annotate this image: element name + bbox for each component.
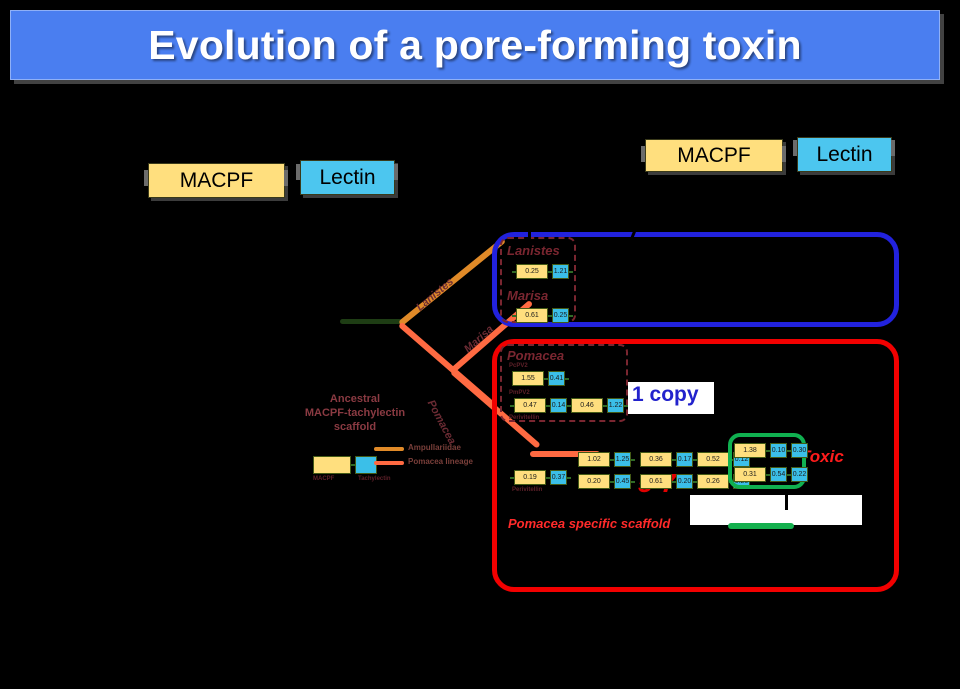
lectin-segment: 0.10 bbox=[770, 443, 787, 458]
pomacea-sublabel-1: PcPV2 bbox=[509, 363, 528, 369]
lectin-segment: 0.20 bbox=[676, 474, 693, 489]
green-highlight-bar bbox=[728, 523, 794, 529]
macpf-segment: 0.19 bbox=[514, 470, 546, 485]
macpf-segment: 0.61 bbox=[640, 474, 672, 489]
ancestral-node-label: Ancestral MACPF-tachylectin scaffold bbox=[300, 393, 410, 434]
gene-row-marisa: 0.61 0.25 bbox=[512, 308, 573, 323]
macpf-segment: 0.25 bbox=[516, 264, 548, 279]
ancestral-macpf-segment bbox=[313, 456, 351, 474]
ancestral-lectin-segment bbox=[355, 456, 377, 474]
lectin-segment: 0.30 bbox=[791, 443, 808, 458]
pointer-scaffold-right bbox=[785, 494, 788, 510]
ancestral-lectin-sublabel: Tachylectin bbox=[358, 476, 391, 482]
gene-row-pomacea-1: 1.55 0.41 bbox=[512, 371, 569, 386]
lectin-segment: 0.25 bbox=[552, 308, 569, 323]
macpf-segment: 0.46 bbox=[571, 398, 603, 413]
lectin-segment: 0.45 bbox=[614, 474, 631, 489]
gene-row-pomacea-2: 0.47 0.14 0.46 1.22 bbox=[510, 398, 628, 413]
row-connector-right bbox=[565, 378, 569, 380]
gene-row-scaffold-1: 0.19 0.37 bbox=[510, 470, 571, 485]
pomacea-sublabel-2: PmPV2 bbox=[509, 390, 530, 396]
lectin-segment: 0.17 bbox=[676, 452, 693, 467]
lectin-segment: 0.14 bbox=[550, 398, 567, 413]
pomacea-specific-scaffold-label: Pomacea specific scaffold bbox=[508, 516, 670, 531]
row-connector-right bbox=[569, 315, 573, 317]
gene-row-scaffold-2: 1.02 1.25 bbox=[578, 452, 635, 467]
tree-branch-label-lanistes: Lanistes bbox=[414, 276, 456, 314]
macpf-segment: 1.38 bbox=[734, 443, 766, 458]
macpf-segment: 0.20 bbox=[578, 474, 610, 489]
ancestral-gene-model bbox=[313, 456, 377, 474]
pomacea-sublabel-3: Perivitellin bbox=[509, 415, 539, 421]
macpf-segment: 0.31 bbox=[734, 467, 766, 482]
legend-line-ampullariidae bbox=[374, 447, 404, 451]
ancestral-label-line-1: Ancestral bbox=[300, 393, 410, 407]
lectin-segment: 0.41 bbox=[548, 371, 565, 386]
legend-text-ampullariidae: Ampullariidae bbox=[408, 443, 461, 452]
row-connector-right bbox=[631, 481, 635, 483]
legend-line-pomacea-lineage bbox=[374, 461, 404, 465]
tree-branch-label-pomacea: Pomacea bbox=[425, 398, 458, 446]
ancestral-macpf-sublabel: MACPF bbox=[313, 476, 334, 482]
legend-text-pomacea-lineage: Pomacea lineage bbox=[408, 457, 473, 466]
gene-row-lanistes: 0.25 1.21 bbox=[512, 264, 573, 279]
pointer-scaffold-left bbox=[627, 494, 630, 510]
ancestral-label-line-2: MACPF-tachylectin bbox=[300, 407, 410, 421]
taxon-label-marisa: Marisa bbox=[507, 288, 548, 303]
lectin-segment: 0.54 bbox=[770, 467, 787, 482]
expanded-note-backdrop bbox=[690, 495, 862, 525]
macpf-segment: 0.61 bbox=[516, 308, 548, 323]
lectin-segment: 1.22 bbox=[607, 398, 624, 413]
gene-row-scaffold-3: 0.20 0.45 bbox=[578, 474, 635, 489]
ancestral-label-line-3: scaffold bbox=[300, 421, 410, 435]
tree-branch-root bbox=[340, 319, 402, 324]
taxon-label-pomacea: Pomacea bbox=[507, 348, 564, 363]
macpf-segment: 1.02 bbox=[578, 452, 610, 467]
lectin-segment: 0.37 bbox=[550, 470, 567, 485]
scaffold-row-1-label: Perivitellin bbox=[512, 487, 542, 493]
taxon-label-lanistes: Lanistes bbox=[507, 243, 560, 258]
row-connector-right bbox=[567, 477, 571, 479]
row-connector-right bbox=[631, 459, 635, 461]
macpf-segment: 0.36 bbox=[640, 452, 672, 467]
macpf-segment: 0.52 bbox=[697, 452, 729, 467]
row-connector-right bbox=[569, 271, 573, 273]
macpf-segment: 0.47 bbox=[514, 398, 546, 413]
gene-row-highlight-1: 1.38 0.10 0.30 bbox=[734, 443, 808, 458]
gene-row-highlight-2: 0.31 0.54 0.22 bbox=[734, 467, 808, 482]
lectin-segment: 0.22 bbox=[791, 467, 808, 482]
phylogeny-diagram: Lanistes Marisa Pomacea Ancestral MACPF-… bbox=[0, 95, 960, 689]
lectin-segment: 1.21 bbox=[552, 264, 569, 279]
row-connector-right bbox=[624, 405, 628, 407]
lectin-segment: 1.25 bbox=[614, 452, 631, 467]
pointer-lanistes bbox=[528, 229, 531, 243]
page-title: Evolution of a pore-forming toxin bbox=[148, 22, 801, 69]
slide-title-banner: Evolution of a pore-forming toxin bbox=[10, 10, 940, 80]
macpf-segment: 0.26 bbox=[697, 474, 729, 489]
macpf-segment: 1.55 bbox=[512, 371, 544, 386]
